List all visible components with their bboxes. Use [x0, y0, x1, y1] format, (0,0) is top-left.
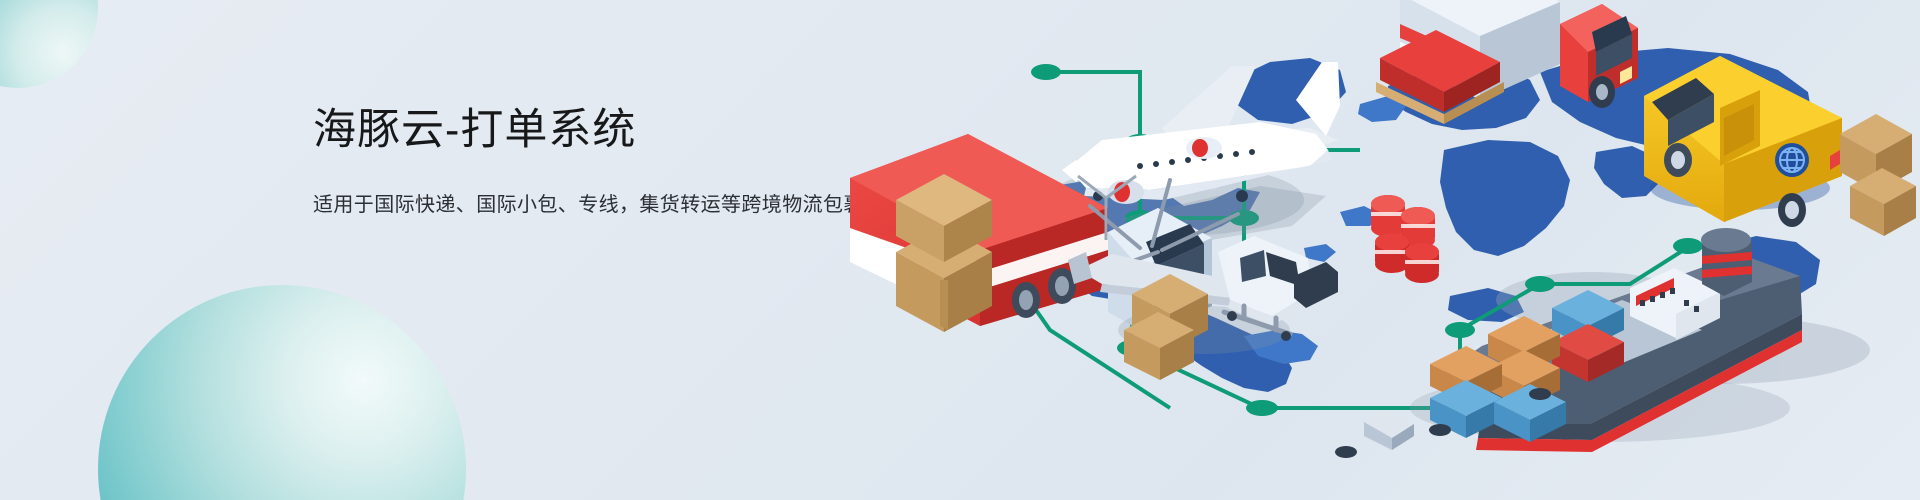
decorative-circle-bottom-left	[98, 285, 466, 500]
page-subtitle: 适用于国际快递、国际小包、专线，集货转运等跨境物流包裹处理	[313, 188, 913, 217]
hero-text-block: 海豚云-打单系统 适用于国际快递、国际小包、专线，集货转运等跨境物流包裹处理	[313, 104, 913, 217]
red-barrels-icon	[1371, 195, 1439, 283]
banner-hero: 海豚云-打单系统 适用于国际快递、国际小包、专线，集货转运等跨境物流包裹处理	[0, 0, 1920, 500]
delivery-van-icon	[1644, 56, 1842, 227]
cardboard-boxes-icon	[1840, 114, 1916, 236]
decorative-circle-top-left	[0, 0, 98, 88]
cardboard-boxes-icon	[896, 174, 992, 332]
isometric-world-logistics-map	[840, 0, 1920, 500]
page-title: 海豚云-打单系统	[313, 104, 913, 158]
